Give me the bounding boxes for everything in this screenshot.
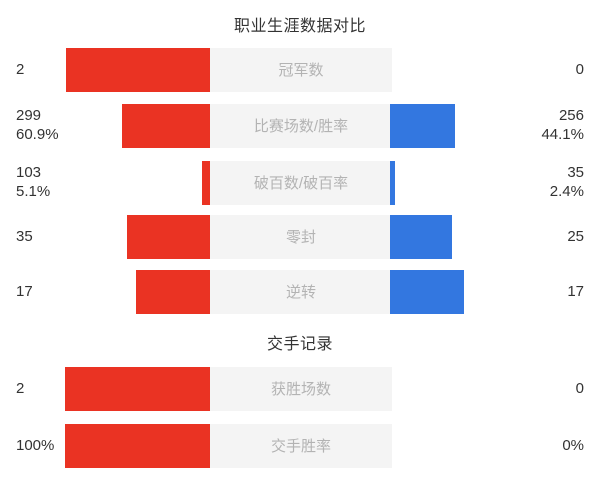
stat-label: 逆转 (286, 285, 316, 300)
right-value: 0 (576, 380, 584, 399)
left-value: 17 (16, 283, 33, 302)
right-value: 35 (567, 164, 584, 183)
left-value-block: 17 (16, 270, 136, 314)
left-value: 2 (16, 61, 24, 80)
right-value: 256 (559, 107, 584, 126)
stat-track: 破百数/破百率 (210, 161, 392, 205)
right-value-block: 0 (464, 48, 584, 92)
left-bar (136, 270, 210, 314)
right-value: 25 (567, 228, 584, 247)
stat-track: 零封 (210, 215, 392, 259)
left-bar (66, 48, 210, 92)
stat-row: 17 逆转 17 (0, 270, 600, 314)
stat-label: 破百数/破百率 (254, 176, 348, 191)
stat-label: 零封 (286, 230, 316, 245)
left-bar (65, 424, 210, 468)
right-bar (390, 215, 452, 259)
right-value-block: 35 2.4% (464, 161, 584, 205)
stat-track: 冠军数 (210, 48, 392, 92)
left-value-block: 35 (16, 215, 136, 259)
stat-row: 2 获胜场数 0 (0, 367, 600, 411)
left-bar (202, 161, 210, 205)
stat-track: 获胜场数 (210, 367, 392, 411)
right-value-block: 0% (464, 424, 584, 468)
left-value: 2 (16, 380, 24, 399)
stat-row: 299 60.9% 比赛场数/胜率 256 44.1% (0, 104, 600, 148)
right-subvalue: 2.4% (550, 183, 584, 202)
section-title-head-to-head: 交手记录 (0, 330, 600, 354)
stat-track: 逆转 (210, 270, 392, 314)
left-value: 100% (16, 437, 54, 456)
left-value: 35 (16, 228, 33, 247)
right-value-block: 256 44.1% (464, 104, 584, 148)
right-value: 17 (567, 283, 584, 302)
left-value: 103 (16, 164, 41, 183)
stat-label: 冠军数 (278, 63, 323, 78)
stat-row: 35 零封 25 (0, 215, 600, 259)
stat-row: 2 冠军数 0 (0, 48, 600, 92)
stat-track: 比赛场数/胜率 (210, 104, 392, 148)
left-subvalue: 60.9% (16, 126, 59, 145)
right-value-block: 25 (464, 215, 584, 259)
right-value-block: 17 (464, 270, 584, 314)
right-subvalue: 44.1% (541, 126, 584, 145)
section-title-career: 职业生涯数据对比 (0, 12, 600, 36)
left-bar (65, 367, 210, 411)
stat-comparison-chart: 职业生涯数据对比 2 冠军数 0 299 60.9% 比赛场数/胜率 256 4… (0, 0, 600, 480)
right-value: 0% (562, 437, 584, 456)
stat-row: 103 5.1% 破百数/破百率 35 2.4% (0, 161, 600, 205)
left-value-block: 299 60.9% (16, 104, 136, 148)
right-value-block: 0 (464, 367, 584, 411)
left-bar (122, 104, 210, 148)
stat-row: 100% 交手胜率 0% (0, 424, 600, 468)
right-bar (390, 270, 464, 314)
stat-track: 交手胜率 (210, 424, 392, 468)
left-value-block: 103 5.1% (16, 161, 136, 205)
left-value: 299 (16, 107, 41, 126)
stat-label: 比赛场数/胜率 (254, 119, 348, 134)
left-subvalue: 5.1% (16, 183, 50, 202)
left-bar (127, 215, 210, 259)
right-value: 0 (576, 61, 584, 80)
right-bar (390, 161, 395, 205)
stat-label: 交手胜率 (271, 439, 331, 454)
right-bar (390, 104, 455, 148)
stat-label: 获胜场数 (271, 382, 331, 397)
